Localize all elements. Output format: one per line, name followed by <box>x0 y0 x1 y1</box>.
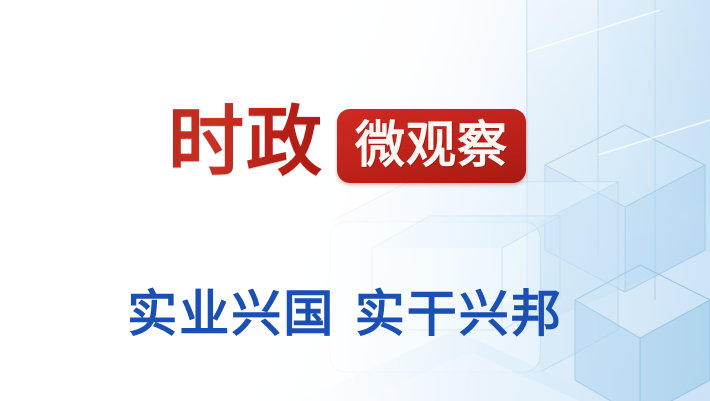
program-title-badge: 微观察 <box>337 109 526 183</box>
subtitle-row: 实业兴国 实干兴邦 <box>0 285 710 343</box>
program-title-badge-label: 微观察 <box>355 119 508 171</box>
news-banner: 时政 微观察 实业兴国 实干兴邦 <box>0 0 710 401</box>
subtitle-slogan: 实业兴国 实干兴邦 <box>127 285 562 343</box>
program-title-main: 时政 <box>168 98 324 186</box>
headline-row: 时政 微观察 <box>0 98 710 193</box>
